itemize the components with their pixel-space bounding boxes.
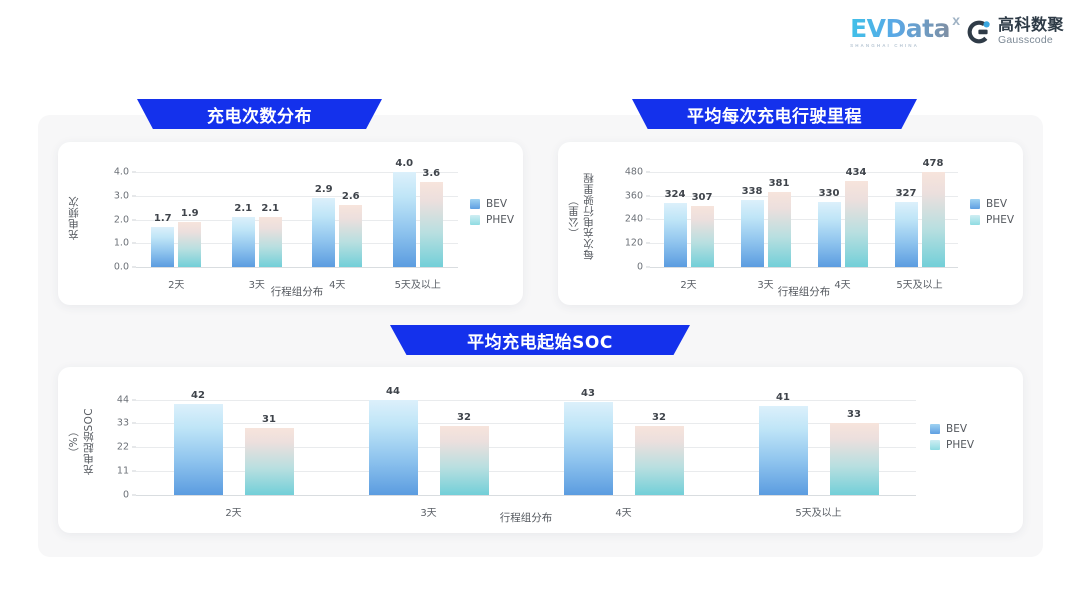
bar-bev: 338 [741, 200, 764, 267]
bar-value-label: 3.6 [422, 168, 440, 179]
evdata-logo-subtitle: SHANGHAI CHINA [850, 44, 919, 49]
bar-group: 42312天 [136, 393, 331, 495]
y-axis-tick-label: 11 [117, 466, 129, 477]
bar-bev: 2.1 [232, 217, 255, 267]
bar-phev: 32 [635, 426, 684, 495]
gausscode-logo-en: Gausscode [998, 35, 1064, 46]
bar-bev: 324 [664, 203, 687, 267]
y-axis-tick-label: 480 [625, 166, 643, 177]
legend-label: PHEV [486, 214, 514, 226]
bar-value-label: 44 [386, 386, 400, 397]
bar-value-label: 2.6 [342, 191, 360, 202]
bar-group: 44323天 [331, 393, 526, 495]
bar-value-label: 33 [847, 409, 861, 420]
chart-charge-count: 充电频次0.01.02.03.04.01.71.92天2.12.13天2.92.… [58, 142, 523, 305]
legend-label: PHEV [946, 439, 974, 451]
gausscode-logo: 高科数聚 Gausscode [966, 18, 1064, 46]
y-axis-tick-label: 4.0 [114, 167, 129, 178]
y-axis-tick-label: 1.0 [114, 238, 129, 249]
legend-swatch-phev-icon [970, 215, 980, 225]
bar-value-label: 1.9 [181, 208, 199, 219]
bar-value-label: 31 [262, 414, 276, 425]
y-axis-title: 充电频次 [66, 168, 81, 268]
bar-bev: 1.7 [151, 227, 174, 267]
bar-phev: 32 [440, 426, 489, 495]
bar-phev: 33 [830, 423, 879, 495]
bar-phev: 381 [768, 192, 791, 267]
chart-card-range: 每次充电行驶里程（公里）01202403604803243072天3383813… [558, 142, 1023, 305]
evdata-logo-wordmark: EVData [850, 16, 950, 41]
bar-value-label: 1.7 [154, 213, 172, 224]
chart-range: 每次充电行驶里程（公里）01202403604803243072天3383813… [558, 142, 1023, 305]
bar-phev: 2.1 [259, 217, 282, 267]
legend-label: BEV [486, 198, 507, 210]
y-axis-tick-label: 22 [117, 442, 129, 453]
bar-group: 4.03.65天及以上 [378, 164, 459, 267]
bar-value-label: 32 [457, 412, 471, 423]
bar-value-label: 307 [692, 192, 713, 203]
bar-group: 1.71.92天 [136, 164, 217, 267]
bar-group: 3383813天 [727, 164, 804, 267]
bar-phev: 434 [845, 181, 868, 267]
bar-group: 41335天及以上 [721, 393, 916, 495]
bar-value-label: 2.1 [261, 203, 279, 214]
chart-legend: BEVPHEV [470, 198, 514, 226]
y-axis-title: 每次充电行驶里程（公里） [566, 156, 596, 278]
legend-swatch-bev-icon [970, 199, 980, 209]
legend-label: BEV [986, 198, 1007, 210]
gausscode-mark-icon [966, 19, 992, 45]
bar-value-label: 42 [191, 390, 205, 401]
bar-value-label: 32 [652, 412, 666, 423]
gridline [136, 495, 916, 496]
bar-value-label: 327 [896, 188, 917, 199]
chart-legend: BEVPHEV [970, 198, 1014, 226]
y-axis-title-line: 每次充电行驶里程 [581, 173, 596, 260]
y-axis-tick-label: 120 [625, 238, 643, 249]
bar-value-label: 43 [581, 388, 595, 399]
legend-swatch-phev-icon [930, 440, 940, 450]
legend-label: PHEV [986, 214, 1014, 226]
plot-area: 0.01.02.03.04.01.71.92天2.12.13天2.92.64天4… [136, 164, 458, 267]
y-axis-title-line: （%） [66, 426, 81, 458]
bar-phev: 3.6 [420, 182, 443, 267]
bar-group: 3304344天 [804, 164, 881, 267]
bar-group: 2.12.13天 [217, 164, 298, 267]
bar-group: 3243072天 [650, 164, 727, 267]
bar-group: 43324天 [526, 393, 721, 495]
bar-phev: 31 [245, 428, 294, 495]
header-logo-group: EVData x SHANGHAI CHINA 高科数聚 Gausscode [850, 12, 1064, 52]
evdata-logo-superscript-icon: x [952, 13, 960, 27]
gridline [650, 267, 958, 268]
chart-title-banner-charge-count: 充电次数分布 [137, 99, 382, 129]
legend-item-phev[interactable]: PHEV [970, 214, 1014, 226]
legend-item-bev[interactable]: BEV [970, 198, 1014, 210]
x-axis-title: 行程组分布 [136, 510, 916, 525]
bar-bev: 2.9 [312, 198, 335, 267]
y-axis-title: 充电起始SOC（%） [66, 387, 96, 497]
gridline [136, 267, 458, 268]
legend-item-phev[interactable]: PHEV [930, 439, 974, 451]
gausscode-logo-cn: 高科数聚 [998, 18, 1064, 35]
bar-value-label: 478 [923, 158, 944, 169]
y-axis-tick-label: 33 [117, 418, 129, 429]
plot-area: 01122334442312天44323天43324天41335天及以上 [136, 393, 916, 495]
bar-value-label: 2.1 [234, 203, 252, 214]
chart-card-charge-count: 充电频次0.01.02.03.04.01.71.92天2.12.13天2.92.… [58, 142, 523, 305]
y-axis-tick-label: 0 [123, 490, 129, 501]
y-axis-tick-label: 3.0 [114, 190, 129, 201]
bar-value-label: 434 [846, 167, 867, 178]
bar-bev: 330 [818, 202, 841, 267]
chart-title-banner-soc: 平均充电起始SOC [390, 325, 690, 355]
y-axis-title-line: 充电起始SOC [81, 408, 96, 475]
bar-phev: 2.6 [339, 205, 362, 267]
bar-value-label: 338 [742, 186, 763, 197]
y-axis-tick-label: 0.0 [114, 262, 129, 273]
legend-item-phev[interactable]: PHEV [470, 214, 514, 226]
legend-swatch-bev-icon [470, 199, 480, 209]
chart-title-banner-range: 平均每次充电行驶里程 [632, 99, 917, 129]
chart-legend: BEVPHEV [930, 423, 974, 451]
bar-value-label: 381 [769, 178, 790, 189]
y-axis-title-line: （公里） [566, 195, 581, 239]
y-axis-tick-label: 0 [637, 262, 643, 273]
x-axis-title: 行程组分布 [650, 284, 958, 299]
bar-value-label: 324 [665, 189, 686, 200]
bar-value-label: 2.9 [315, 184, 333, 195]
bar-group: 3274785天及以上 [881, 164, 958, 267]
plot-area: 01202403604803243072天3383813天3304344天327… [650, 164, 958, 267]
y-axis-tick-label: 44 [117, 394, 129, 405]
legend-item-bev[interactable]: BEV [470, 198, 514, 210]
gausscode-logo-text: 高科数聚 Gausscode [998, 18, 1064, 46]
bar-phev: 1.9 [178, 222, 201, 267]
bar-bev: 42 [174, 404, 223, 495]
bar-bev: 43 [564, 402, 613, 495]
chart-card-soc: 充电起始SOC（%）01122334442312天44323天43324天413… [58, 367, 1023, 533]
y-axis-tick-label: 240 [625, 214, 643, 225]
bar-group: 2.92.64天 [297, 164, 378, 267]
legend-label: BEV [946, 423, 967, 435]
chart-soc: 充电起始SOC（%）01122334442312天44323天43324天413… [58, 367, 1023, 533]
legend-swatch-bev-icon [930, 424, 940, 434]
y-axis-tick-label: 2.0 [114, 214, 129, 225]
bar-phev: 478 [922, 172, 945, 267]
legend-swatch-phev-icon [470, 215, 480, 225]
bar-phev: 307 [691, 206, 714, 267]
bar-bev: 44 [369, 400, 418, 495]
bar-value-label: 41 [776, 392, 790, 403]
bar-value-label: 4.0 [395, 158, 413, 169]
bar-bev: 327 [895, 202, 918, 267]
bar-bev: 4.0 [393, 172, 416, 267]
bar-value-label: 330 [819, 188, 840, 199]
x-axis-title: 行程组分布 [136, 284, 458, 299]
y-axis-tick-label: 360 [625, 190, 643, 201]
bar-bev: 41 [759, 406, 808, 495]
evdata-logo: EVData x SHANGHAI CHINA [850, 16, 950, 49]
legend-item-bev[interactable]: BEV [930, 423, 974, 435]
